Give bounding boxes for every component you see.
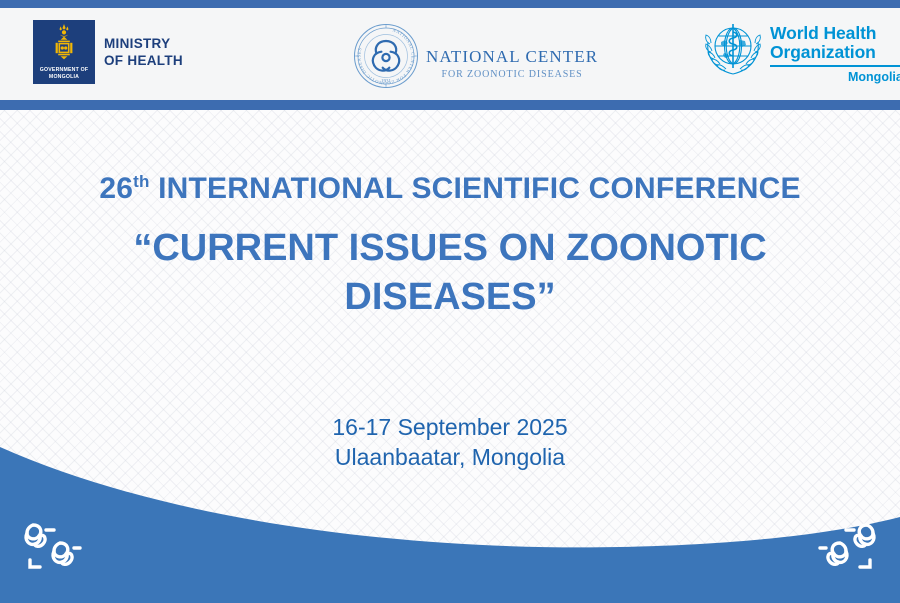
biohazard-seal-icon: 1931 NATIONAL CENTER FOR ZOONOTIC DISEAS… — [352, 22, 420, 95]
conference-number: 26 — [99, 172, 133, 205]
flag-caption-line2: MONGOLIA — [49, 74, 79, 81]
who-name-line2: Organization — [770, 43, 900, 62]
who-emblem-icon — [702, 20, 764, 83]
national-center-name-line1: NATIONAL CENTER — [426, 47, 598, 67]
header-divider-bar — [0, 100, 900, 110]
ministry-of-health-name: MINISTRY OF HEALTH — [104, 35, 183, 69]
mongolian-knot-emblem-right — [812, 515, 884, 575]
top-accent-bar — [0, 0, 900, 8]
who-country-label: Mongolia — [848, 70, 900, 84]
event-dates: 16-17 September 2025 — [0, 412, 900, 442]
government-of-mongolia-flag: GOVERNMENT OF MONGOLIA — [33, 20, 95, 84]
who-name-block: World Health Organization Mongolia — [770, 24, 900, 84]
conference-ordinal-suffix: th — [133, 172, 149, 191]
national-center-name-line2: FOR ZOONOTIC DISEASES — [442, 69, 583, 80]
ministry-name-line2: OF HEALTH — [104, 52, 183, 69]
conference-theme-line2: DISEASES” — [60, 273, 840, 322]
ministry-name-line1: MINISTRY — [104, 35, 183, 52]
conference-title-text: INTERNATIONAL SCIENTIFIC CONFERENCE — [158, 172, 801, 205]
national-center-name: NATIONAL CENTER FOR ZOONOTIC DISEASES — [426, 47, 598, 80]
wave-blue-shape — [0, 447, 900, 603]
conference-heading: 26th INTERNATIONAL SCIENTIFIC CONFERENCE — [0, 170, 900, 208]
who-mongolia-logo: World Health Organization Mongolia — [702, 20, 900, 84]
conference-theme: “CURRENT ISSUES ON ZOONOTIC DISEASES” — [0, 224, 900, 322]
svg-text:NATIONAL CENTER FOR ZOONOTIC D: NATIONAL CENTER FOR ZOONOTIC DISEASES — [356, 27, 415, 85]
ministry-of-health-logo: GOVERNMENT OF MONGOLIA MINISTRY OF HEALT… — [33, 20, 183, 84]
mongolian-knot-emblem-left — [16, 515, 88, 575]
conference-title-slide: GOVERNMENT OF MONGOLIA MINISTRY OF HEALT… — [0, 0, 900, 603]
national-center-zoonotic-diseases-logo: 1931 NATIONAL CENTER FOR ZOONOTIC DISEAS… — [352, 22, 598, 95]
who-underline-rule — [770, 65, 900, 67]
who-name-line1: World Health — [770, 24, 900, 43]
title-block: 26th INTERNATIONAL SCIENTIFIC CONFERENCE… — [0, 170, 900, 322]
bottom-wave-decoration — [0, 443, 900, 603]
conference-theme-line1: “CURRENT ISSUES ON ZOONOTIC — [60, 224, 840, 273]
soyombo-emblem-icon — [49, 23, 79, 66]
